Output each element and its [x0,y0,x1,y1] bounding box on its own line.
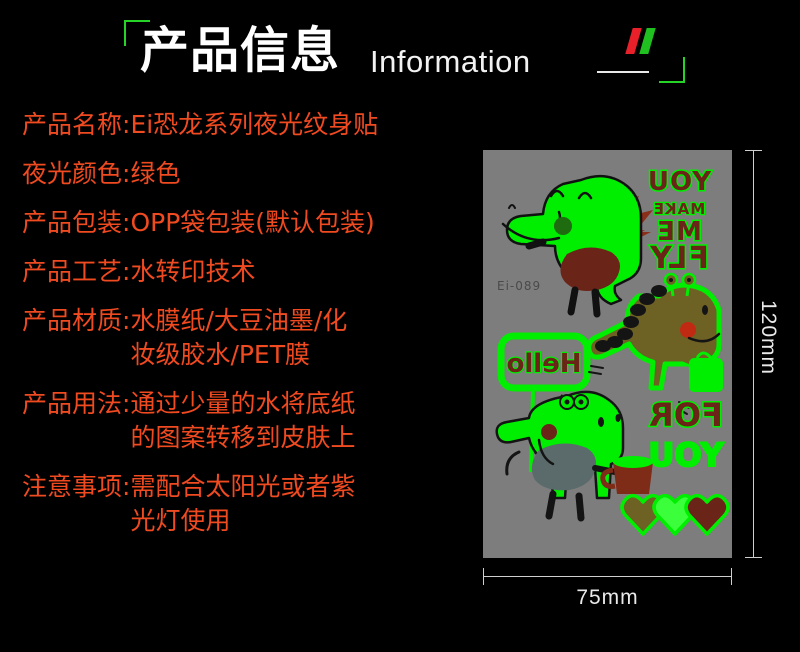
svg-text:FLY: FLY [649,241,709,276]
dimension-label-height: 120mm [756,300,780,375]
spec-value-continuation: 光灯使用 [130,504,472,538]
spec-label: 产品材质: [22,304,130,338]
spec-value-line: Ei恐龙系列夜光纹身贴 [130,110,378,139]
spec-value-line: 水膜纸/大豆油墨/化 [130,306,347,335]
spec-value: 需配合太阳光或者紫光灯使用 [130,470,472,538]
svg-text:YOU: YOU [647,167,712,197]
dimension-label-width: 75mm [483,586,732,610]
product-sheet-image: Ei-089 YOU MAKE ME FLY Hello [483,150,732,558]
tattoo-sheet-background: Ei-089 YOU MAKE ME FLY Hello [483,150,732,558]
decal-hearts [622,496,728,534]
spec-value-line: OPP袋包装(默认包装) [130,208,374,237]
quote-mark-green [639,28,655,54]
spec-label: 注意事项: [22,470,130,504]
spec-value: 水膜纸/大豆油墨/化妆级胶水/PET膜 [130,304,472,372]
tattoo-decals-artwork: Ei-089 YOU MAKE ME FLY Hello [483,150,732,558]
spec-label: 产品用法: [22,387,130,421]
spec-value: 绿色 [130,157,472,191]
page-header: 产品信息 Information [0,0,800,100]
spec-value: OPP袋包装(默认包装) [130,206,472,240]
svg-text:Hello: Hello [506,349,581,379]
product-spec-list: 产品名称:Ei恐龙系列夜光纹身贴夜光颜色:绿色产品包装:OPP袋包装(默认包装)… [22,108,472,553]
spec-row: 夜光颜色:绿色 [22,157,472,191]
sheet-code-label: Ei-089 [497,279,541,293]
title-rule [597,71,649,73]
page-title: 产品信息 [140,22,340,80]
spec-value-line: 绿色 [130,159,180,188]
spec-value: 通过少量的水将底纸的图案转移到皮肤上 [130,387,472,455]
spec-value: 水转印技术 [130,255,472,289]
spec-value: Ei恐龙系列夜光纹身贴 [130,108,472,142]
spec-row: 产品材质:水膜纸/大豆油墨/化妆级胶水/PET膜 [22,304,472,372]
dimension-line-horizontal [483,576,732,577]
spec-row: 产品用法:通过少量的水将底纸的图案转移到皮肤上 [22,387,472,455]
spec-value-continuation: 的图案转移到皮肤上 [130,421,472,455]
dimension-line-vertical [753,150,754,558]
spec-value-line: 需配合太阳光或者紫 [130,472,355,501]
spec-row: 产品名称:Ei恐龙系列夜光纹身贴 [22,108,472,142]
decal-text-you-make-me-fly: YOU MAKE ME FLY [647,167,712,276]
svg-text:YOU: YOU [648,436,724,474]
svg-text:MAKE: MAKE [653,200,705,218]
spec-value-line: 通过少量的水将底纸 [130,389,355,418]
spec-label: 产品包装: [22,206,130,240]
decal-text-for-you: FOR YOU [648,396,724,474]
spec-row: 注意事项:需配合太阳光或者紫光灯使用 [22,470,472,538]
spec-value-line: 水转印技术 [130,257,255,286]
spec-label: 产品工艺: [22,255,130,289]
spec-row: 产品包装:OPP袋包装(默认包装) [22,206,472,240]
spec-label: 夜光颜色: [22,157,130,191]
spec-value-continuation: 妆级胶水/PET膜 [130,338,472,372]
spec-row: 产品工艺:水转印技术 [22,255,472,289]
svg-text:FOR: FOR [649,396,723,434]
page-subtitle: Information [370,44,531,80]
spec-label: 产品名称: [22,108,130,142]
decorative-corner-bottom-right [659,57,685,83]
